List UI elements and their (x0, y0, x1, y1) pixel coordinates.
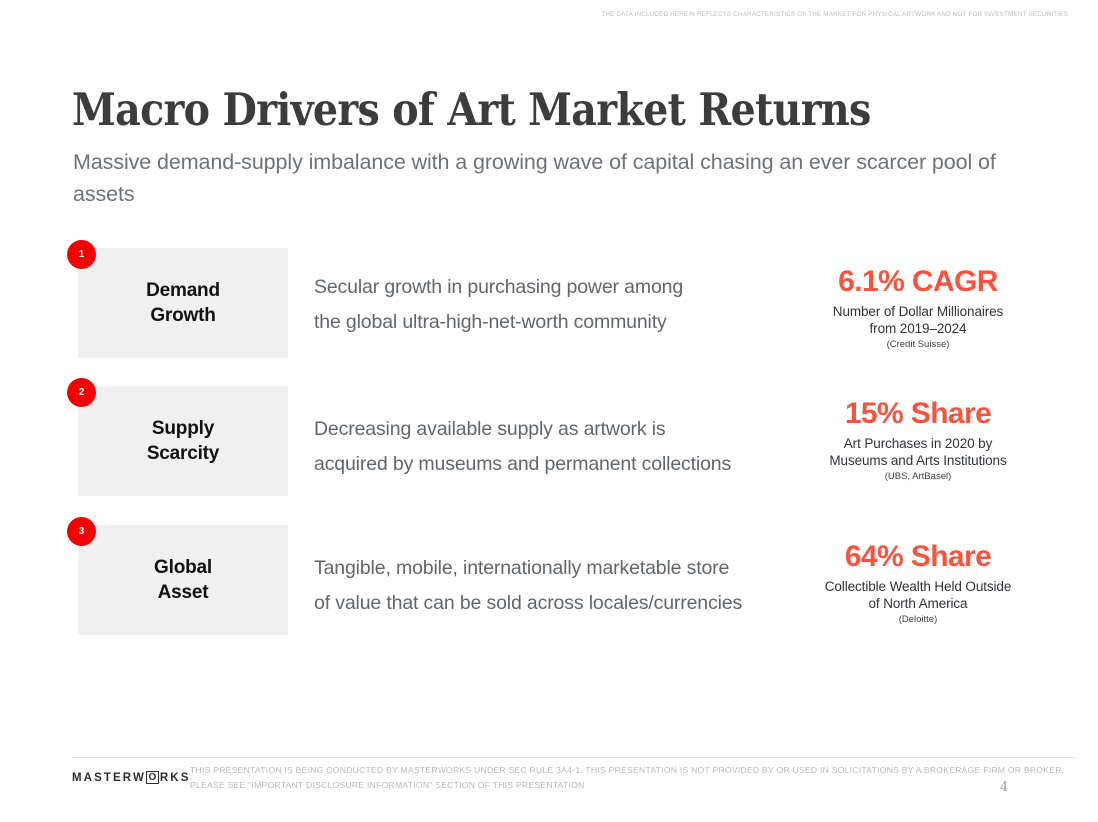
footer-divider (72, 757, 1076, 758)
driver-description-1: Secular growth in purchasing power among… (314, 270, 814, 340)
driver-description-line2: acquired by museums and permanent collec… (314, 453, 731, 475)
row-badge-3: 3 (67, 517, 96, 546)
stat-source: (Credit Suisse) (804, 339, 1032, 351)
stat-headline: 64% Share (804, 539, 1032, 575)
stat-caption: Collectible Wealth Held Outside of North… (804, 579, 1032, 612)
page-number: 4 (1000, 780, 1008, 795)
stat-caption-line2: of North America (869, 596, 968, 611)
driver-stat-1: 6.1% CAGR Number of Dollar Millionaires … (804, 264, 1032, 351)
stat-caption-line1: Number of Dollar Millionaires (833, 304, 1003, 319)
stat-headline: 6.1% CAGR (804, 264, 1032, 300)
driver-panel-2: Supply Scarcity (78, 386, 288, 496)
stat-caption-line1: Art Purchases in 2020 by (844, 436, 992, 451)
driver-description-line1: Tangible, mobile, internationally market… (314, 557, 729, 579)
logo-text-part1: MASTERW (72, 772, 146, 784)
footer-disclaimer: THIS PRESENTATION IS BEING CONDUCTED BY … (190, 763, 1080, 792)
driver-panel-label: Demand Growth (146, 278, 220, 328)
driver-stat-2: 15% Share Art Purchases in 2020 by Museu… (804, 396, 1032, 483)
stat-source: (Deloitte) (804, 614, 1032, 626)
row-badge-2: 2 (67, 378, 96, 407)
driver-panel-1: Demand Growth (78, 248, 288, 358)
stat-caption-line2: from 2019–2024 (870, 321, 967, 336)
driver-panel-label: Supply Scarcity (147, 416, 219, 466)
stat-caption: Number of Dollar Millionaires from 2019–… (804, 304, 1032, 337)
stat-caption-line1: Collectible Wealth Held Outside (825, 579, 1012, 594)
masterworks-logo: MASTERWORKS (72, 771, 191, 784)
row-badge-1: 1 (67, 240, 96, 269)
logo-boxed-o-icon: O (146, 771, 159, 784)
driver-description-2: Decreasing available supply as artwork i… (314, 412, 814, 482)
driver-panel-label-line2: Scarcity (147, 443, 219, 464)
driver-panel-label-line2: Asset (158, 582, 209, 603)
driver-panel-label: Global Asset (154, 555, 212, 605)
driver-panel-label-line1: Demand (146, 280, 220, 301)
logo-text-part2: RKS (160, 772, 191, 784)
driver-panel-3: Global Asset (78, 525, 288, 635)
driver-stat-3: 64% Share Collectible Wealth Held Outsid… (804, 539, 1032, 626)
stat-source: (UBS, ArtBasel) (804, 471, 1032, 483)
driver-panel-label-line1: Supply (152, 418, 214, 439)
driver-description-line1: Secular growth in purchasing power among (314, 276, 683, 298)
driver-description-line2: of value that can be sold across locales… (314, 592, 742, 614)
driver-description-line1: Decreasing available supply as artwork i… (314, 418, 666, 440)
driver-rows: 1 Demand Growth Secular growth in purcha… (0, 0, 1098, 822)
stat-caption-line2: Museums and Arts Institutions (829, 453, 1006, 468)
stat-caption: Art Purchases in 2020 by Museums and Art… (804, 436, 1032, 469)
driver-description-line2: the global ultra-high-net-worth communit… (314, 311, 667, 333)
stat-headline: 15% Share (804, 396, 1032, 432)
driver-panel-label-line2: Growth (150, 305, 215, 326)
driver-panel-label-line1: Global (154, 557, 212, 578)
driver-description-3: Tangible, mobile, internationally market… (314, 551, 814, 621)
